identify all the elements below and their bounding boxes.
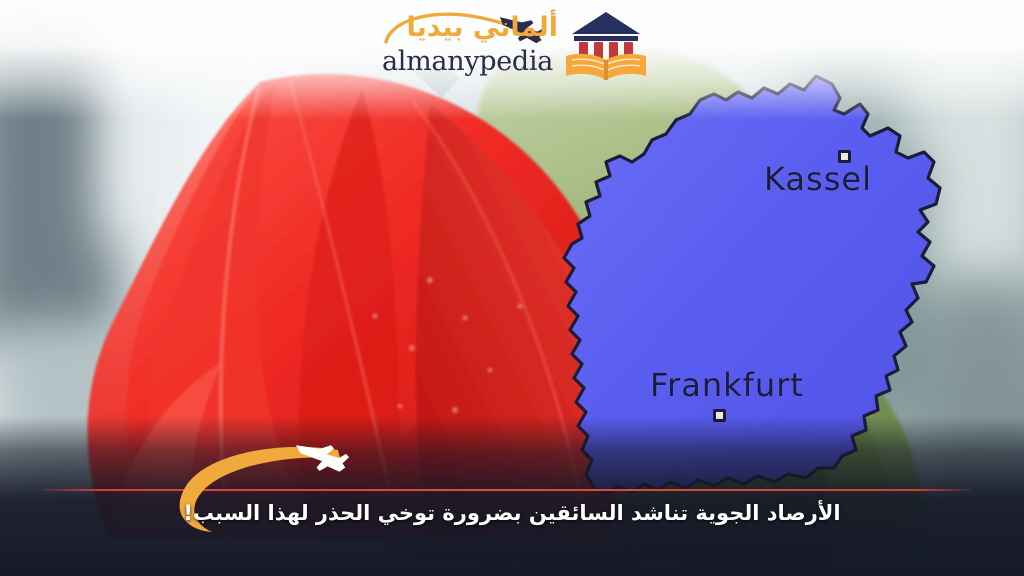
map-label-kassel: Kassel: [764, 160, 872, 198]
map-label-frankfurt: Frankfurt: [650, 366, 804, 404]
headline-caption: الأرصاد الجوية تناشد السائقين بضرورة توخ…: [0, 498, 1024, 528]
city-marker-icon: [713, 409, 726, 422]
brand-logo[interactable]: ألماني بيديا almanypedia: [382, 4, 650, 90]
brand-name-latin: almanypedia: [382, 48, 553, 75]
library-book-emblem-icon: [564, 8, 648, 86]
city-marker-icon: [838, 150, 851, 163]
brand-wordmark: ألماني بيديا almanypedia: [382, 6, 558, 88]
brand-name-arabic: ألماني بيديا: [406, 14, 558, 41]
hesse-map-overlay: [548, 70, 968, 500]
news-card: Kassel Frankfurt ألماني بيديا almanypedi…: [0, 0, 1024, 576]
